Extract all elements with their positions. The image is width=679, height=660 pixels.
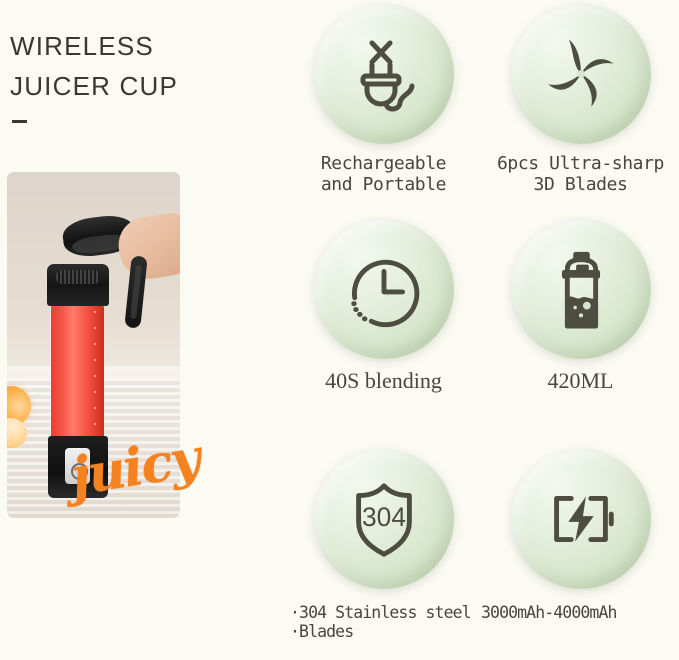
battery-charging-icon [539, 477, 623, 561]
feature-label-stainless-steel: ·304 Stainless steel ·Blades [284, 603, 483, 642]
feature-label-battery: 3000mAh-4000mAh [481, 603, 679, 622]
feature-label-line2: and Portable [321, 174, 446, 195]
feature-label-line1: ·304 Stainless steel [290, 603, 483, 622]
feature-grid: Rechargeable and Portable [280, 0, 679, 660]
feature-icon-circle [314, 219, 454, 359]
page-title-line2: JUICER CUP [10, 66, 270, 106]
blades-pinwheel-icon [538, 31, 624, 117]
feature-label-line1: 3000mAh-4000mAh [481, 603, 679, 622]
page-title-line1: WIRELESS [10, 26, 270, 66]
product-photo [7, 172, 180, 518]
feature-label-line1: 6pcs Ultra-sharp [497, 153, 664, 174]
feature-label-line2: 3D Blades [534, 174, 628, 195]
feature-label-line2: ·Blades [290, 622, 483, 641]
bottle-juice-fill [51, 305, 104, 441]
feature-icon-circle [511, 449, 651, 589]
feature-cell-rechargeable: Rechargeable and Portable [284, 4, 483, 195]
plug-no-cord-icon [341, 31, 427, 117]
feature-cell-blending-time: 40S blending [284, 219, 483, 394]
bottle-blade-collar [47, 264, 109, 306]
shield-number-text: 304 [362, 502, 406, 532]
feature-cell-stainless-steel: 304 ·304 Stainless steel ·Blades [284, 449, 483, 642]
feature-label-rechargeable: Rechargeable and Portable [284, 153, 483, 195]
feature-icon-circle [511, 219, 651, 359]
feature-icon-circle: 304 [314, 449, 454, 589]
shield-304-icon: 304 [342, 477, 426, 561]
feature-label-capacity: 420ML [481, 368, 679, 394]
product-feature-infographic: WIRELESS JUICER CUP juicy [0, 0, 679, 660]
feature-cell-blades: 6pcs Ultra-sharp 3D Blades [481, 4, 679, 195]
feature-cell-capacity: 420ML [481, 219, 679, 394]
feature-label-line1: Rechargeable [321, 153, 446, 174]
page-title: WIRELESS JUICER CUP [10, 26, 270, 123]
title-divider-dash [12, 120, 27, 123]
clock-icon [342, 247, 426, 331]
feature-label-blades: 6pcs Ultra-sharp 3D Blades [481, 153, 679, 195]
feature-icon-circle [511, 4, 651, 144]
feature-label-blending-time: 40S blending [284, 368, 483, 394]
feature-icon-circle [314, 4, 454, 144]
bottle-fill-icon [539, 247, 623, 331]
bottle-power-button [65, 448, 90, 484]
feature-cell-battery: 3000mAh-4000mAh [481, 449, 679, 622]
